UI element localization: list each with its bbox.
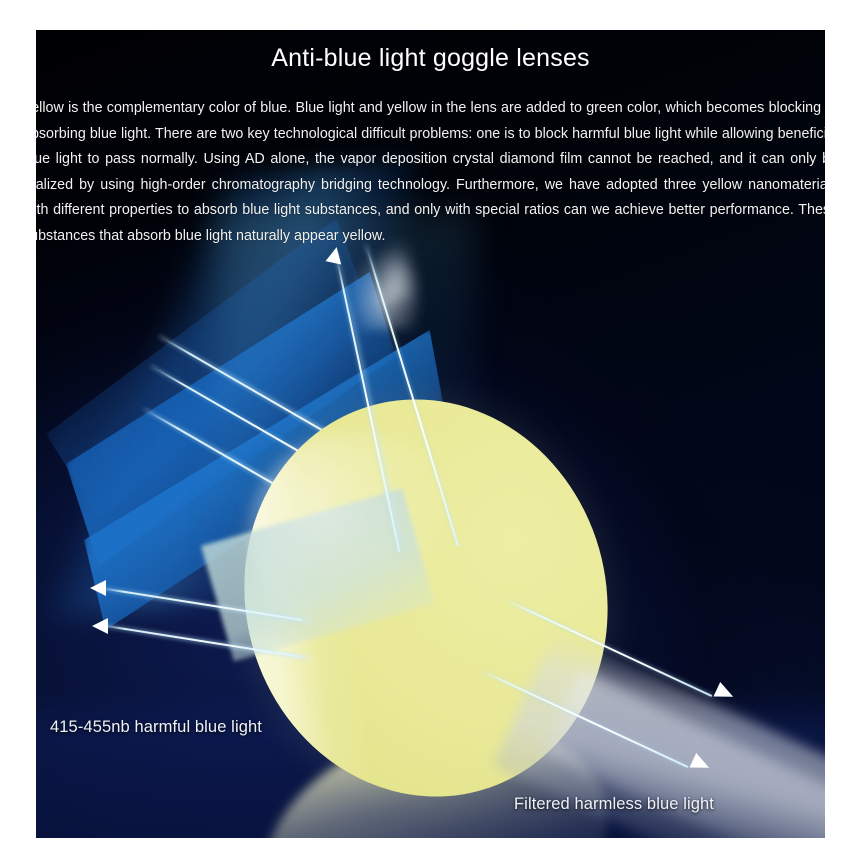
- description-paragraph: Yellow is the complementary color of blu…: [36, 96, 825, 249]
- page-title: Anti-blue light goggle lenses: [36, 44, 825, 73]
- reflected-left-arrowhead-1: [90, 580, 106, 596]
- label-filtered-harmless-light: Filtered harmless blue light: [514, 795, 714, 814]
- label-harmful-blue-light: 415-455nb harmful blue light: [50, 718, 262, 737]
- page-root: 415-455nb harmful blue light Filtered ha…: [0, 0, 861, 861]
- product-illustration-panel: 415-455nb harmful blue light Filtered ha…: [36, 30, 825, 838]
- reflected-left-arrowhead-2: [92, 618, 108, 634]
